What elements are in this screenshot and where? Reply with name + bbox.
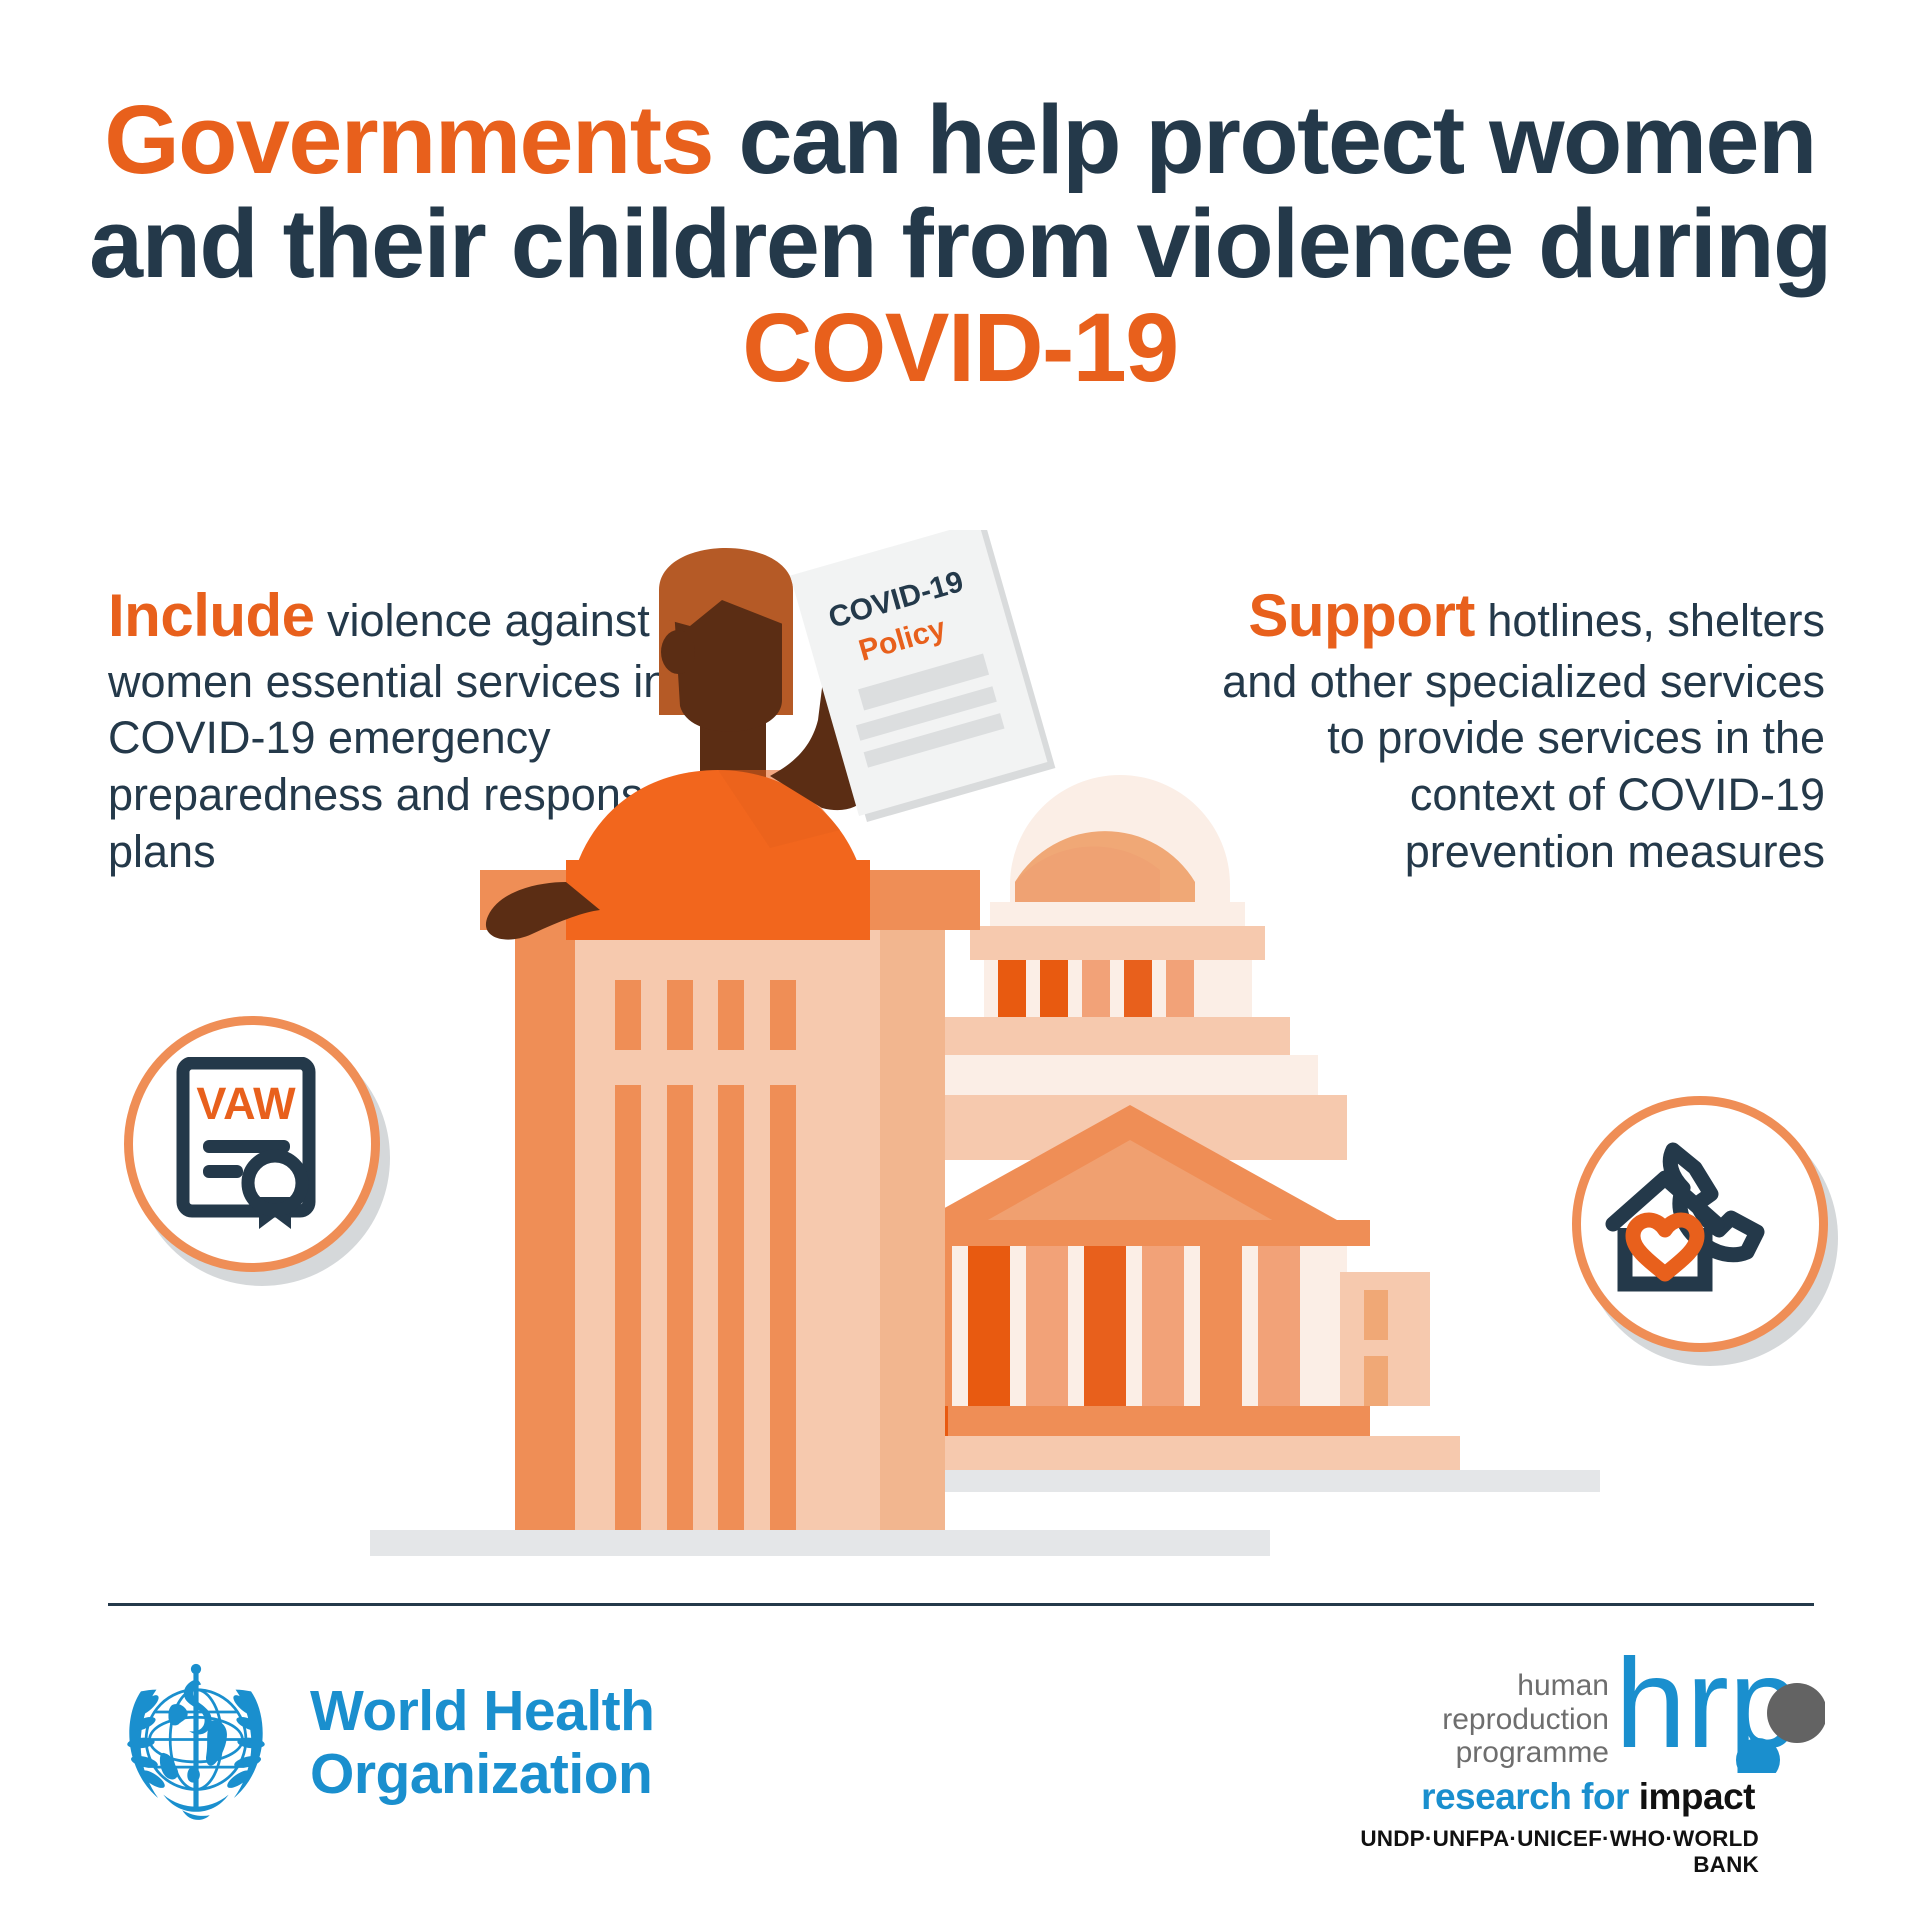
hotline-shelter-badge — [1572, 1096, 1828, 1352]
who-logo: World Health Organization — [110, 1657, 654, 1829]
hrp-word-reproduction: reproduction — [1442, 1703, 1609, 1737]
hrp-partners: UNDP·UNFPA·UNICEF·WHO·WORLD BANK — [1345, 1826, 1825, 1878]
vaw-certificate-badge: VAW — [124, 1016, 380, 1272]
headline-accent-1: Governments — [104, 85, 713, 194]
who-line-2: Organization — [310, 1743, 654, 1806]
headline-accent-2: COVID-19 — [742, 293, 1177, 402]
hotline-shelter-icon — [1605, 1132, 1795, 1317]
who-wordmark: World Health Organization — [310, 1680, 654, 1805]
hrp-wordmark: human reproduction programme — [1442, 1655, 1609, 1770]
vaw-label: VAW — [196, 1078, 296, 1129]
left-lead-word: Include — [108, 582, 315, 649]
ear — [661, 630, 695, 674]
hrp-tagline-blue: research for — [1421, 1776, 1639, 1817]
footer-divider — [108, 1603, 1814, 1606]
page-title: Governments can help protect women and t… — [70, 88, 1850, 399]
hrp-letters-icon: hrp — [1615, 1655, 1825, 1773]
who-line-1: World Health — [310, 1680, 654, 1743]
podium — [480, 870, 980, 1530]
hrp-logo: human reproduction programme hrp researc… — [1345, 1655, 1825, 1878]
floor-shadow-right — [930, 1470, 1600, 1492]
who-emblem-icon — [110, 1657, 282, 1829]
heart-icon — [1633, 1220, 1697, 1274]
hrp-mark: hrp — [1615, 1655, 1825, 1765]
hrp-word-programme: programme — [1442, 1736, 1609, 1770]
floor-shadow-left — [370, 1530, 1270, 1556]
hrp-word-human: human — [1442, 1669, 1609, 1703]
central-illustration: COVID-19 Policy — [370, 530, 1600, 1590]
hrp-tagline-black: impact — [1639, 1776, 1755, 1817]
vaw-certificate-icon: VAW — [167, 1057, 337, 1232]
hrp-grey-dot — [1767, 1683, 1825, 1743]
hrp-tagline: research for impact — [1345, 1776, 1825, 1818]
